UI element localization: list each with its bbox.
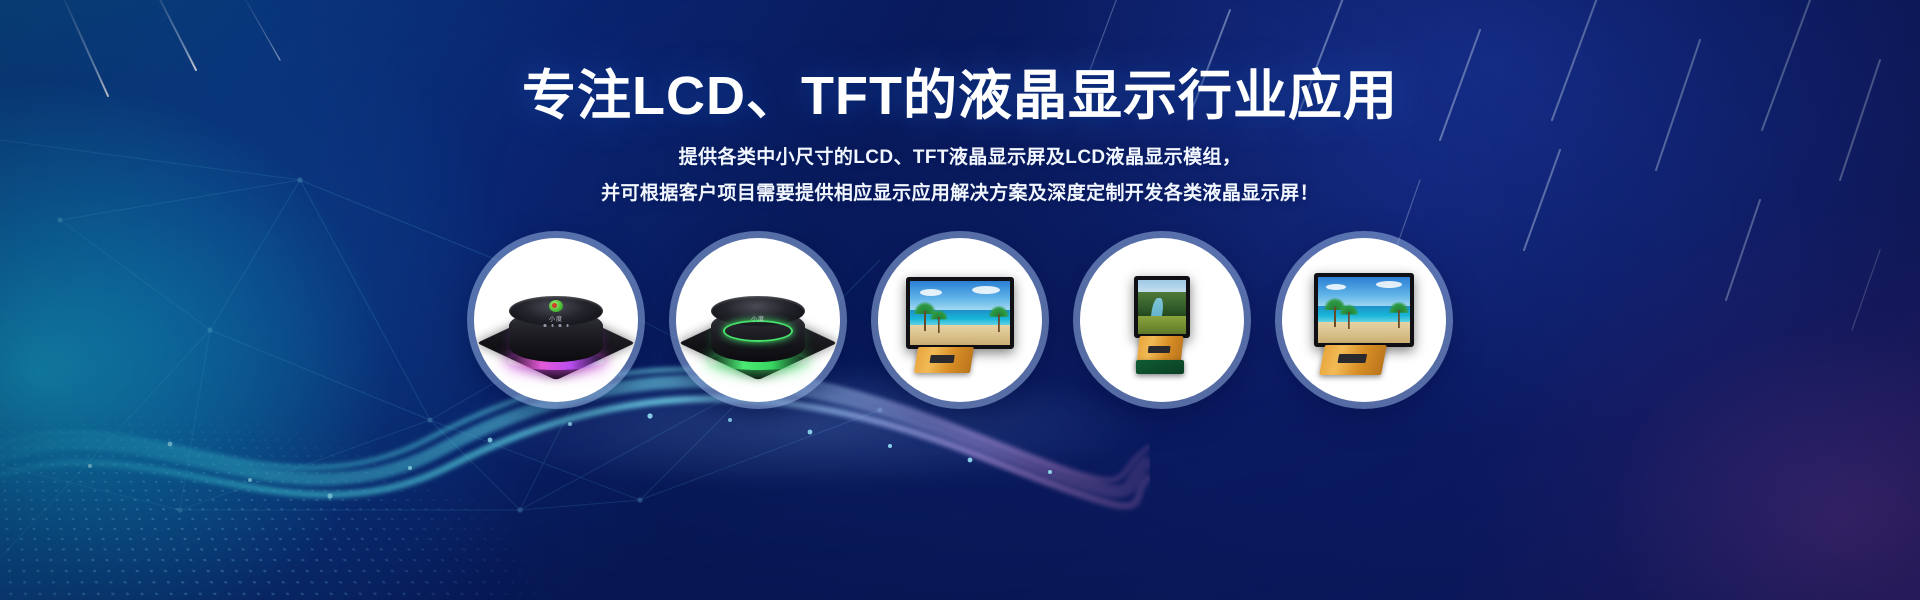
product-image-tft-landscape (1080, 238, 1244, 402)
product-image-tft-beach-large (1282, 238, 1446, 402)
product-image-speaker-green: 小度 (676, 238, 840, 402)
speaker-indicator-dots (544, 324, 569, 327)
lcd-screen (906, 277, 1014, 349)
lcd-panel (906, 277, 1014, 349)
speaker-brand-label: 小度 (549, 314, 563, 323)
product-image-speaker-purple: 小度 (474, 238, 638, 402)
lcd-panel (1134, 276, 1190, 338)
lcd-scene-beach (910, 281, 1010, 345)
product-circle-list: 圆形智能音箱 紫色灯环 小度 圆形智能音箱 绿色灯环 (0, 238, 1920, 402)
page-title: 专注LCD、TFT的液晶显示行业应用 (0, 68, 1920, 125)
hero-banner: 专注LCD、TFT的液晶显示行业应用 提供各类中小尺寸的LCD、TFT液晶显示屏… (0, 0, 1920, 600)
speaker-top-ring-icon (723, 320, 793, 342)
speaker-brand-label: 小度 (751, 314, 765, 323)
lcd-scene-landscape (1138, 280, 1186, 334)
product-circle-tft-lcd-landscape[interactable]: TFT液晶显示屏 风景画面 (1080, 238, 1244, 402)
product-circle-tft-lcd-beach-large[interactable]: TFT液晶显示屏 海滩画面 带排线 (1282, 238, 1446, 402)
lcd-screen (1134, 276, 1190, 338)
driver-pcb (1136, 360, 1184, 374)
lcd-screen (1314, 273, 1414, 347)
fpc-ribbon-cable (1319, 345, 1387, 375)
product-image-tft-beach (878, 238, 1042, 402)
product-circle-tft-lcd-beach[interactable]: TFT液晶显示屏 海滩画面 (878, 238, 1042, 402)
product-circle-smart-speaker-purple[interactable]: 圆形智能音箱 紫色灯环 小度 (474, 238, 638, 402)
subtitle-line-1: 提供各类中小尺寸的LCD、TFT液晶显示屏及LCD液晶显示模组， (0, 142, 1920, 169)
subtitle-line-2: 并可根据客户项目需要提供相应显示应用解决方案及深度定制开发各类液晶显示屏！ (0, 178, 1920, 205)
lcd-panel (1314, 273, 1414, 347)
lcd-scene-beach (1318, 277, 1410, 343)
product-circle-smart-speaker-green[interactable]: 圆形智能音箱 绿色灯环 小度 (676, 238, 840, 402)
fpc-ribbon-cable (914, 347, 974, 373)
